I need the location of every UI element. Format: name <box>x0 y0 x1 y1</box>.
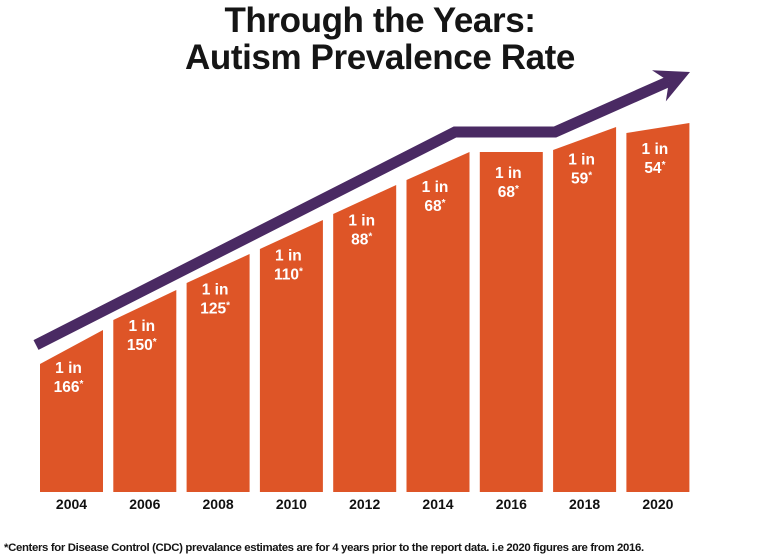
year-label-2006: 2006 <box>129 496 160 512</box>
bar-2020 <box>626 123 689 492</box>
bar-label-line1-2004: 1 in <box>55 360 82 377</box>
year-label-2014: 2014 <box>422 496 453 512</box>
bar-label-line1-2006: 1 in <box>128 318 155 335</box>
year-label-2012: 2012 <box>349 496 380 512</box>
bar-2016 <box>480 152 543 492</box>
year-label-2008: 2008 <box>203 496 234 512</box>
year-label-2016: 2016 <box>496 496 527 512</box>
bar-label-value-2008: 125* <box>200 300 230 318</box>
bar-label-value-2010: 110* <box>274 266 303 284</box>
bar-label-line1-2020: 1 in <box>642 141 669 158</box>
bar-label-line1-2008: 1 in <box>202 282 229 299</box>
bar-label-value-2004: 166* <box>54 379 84 397</box>
bar-label-line1-2012: 1 in <box>348 213 375 230</box>
bar-label-line1-2014: 1 in <box>422 179 449 196</box>
year-label-2010: 2010 <box>276 496 307 512</box>
prevalence-bar-chart: 1 in166*1 in150*1 in125*1 in110*1 in88*1… <box>0 0 760 520</box>
chart-canvas: 1 in166*1 in150*1 in125*1 in110*1 in88*1… <box>0 0 760 520</box>
year-label-2018: 2018 <box>569 496 600 512</box>
bar-2004 <box>40 330 103 492</box>
year-label-2004: 2004 <box>56 496 87 512</box>
infographic-root: Through the Years: Autism Prevalence Rat… <box>0 0 760 560</box>
bar-label-line1-2016: 1 in <box>495 165 522 182</box>
year-label-2020: 2020 <box>642 496 673 512</box>
footnote-text: *Centers for Disease Control (CDC) preva… <box>4 542 756 554</box>
bar-label-line1-2018: 1 in <box>568 152 595 169</box>
bar-label-line1-2010: 1 in <box>275 248 302 265</box>
bar-label-value-2006: 150* <box>127 337 157 355</box>
year-axis-labels-group: 200420062008201020122014201620182020 <box>56 496 674 512</box>
